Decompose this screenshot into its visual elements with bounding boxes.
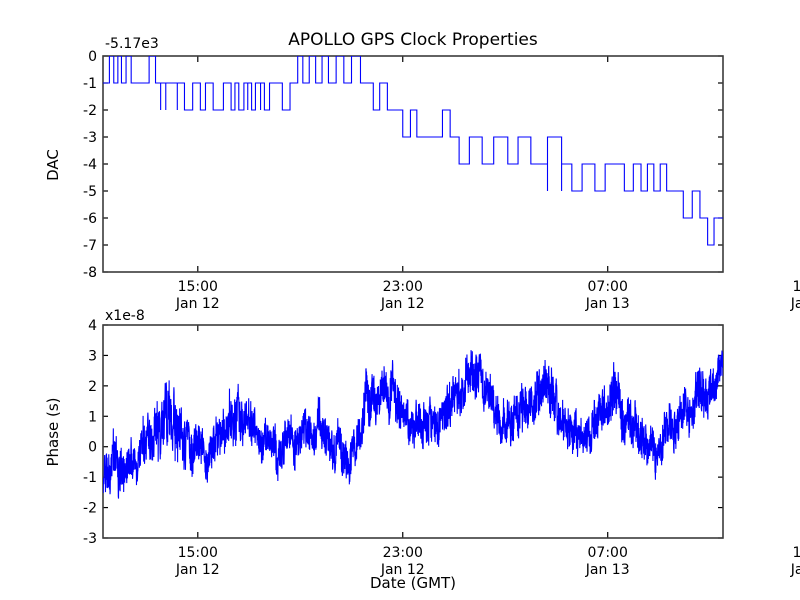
matplotlib-figure: APOLLO GPS Clock Properties -5.17e3 DAC …	[0, 0, 800, 600]
dac-offset-label: -5.17e3	[105, 36, 159, 52]
phase-y-axis-label: Phase (s)	[44, 397, 62, 466]
phase-data-line	[103, 350, 723, 499]
y-tick-label: -6	[83, 211, 97, 227]
y-tick-label: -1	[83, 76, 97, 92]
x-tick-label: 07:00	[588, 279, 628, 295]
dac-y-tick-group: 0-1-2-3-4-5-6-7-8	[83, 49, 723, 281]
y-tick-label: -7	[83, 238, 97, 254]
dac-plot-frame	[103, 56, 723, 272]
x-tick-label: 15:00	[792, 279, 800, 295]
dac-x-tick-group: 15:00Jan 1223:00Jan 1207:00Jan 1315:00Ja…	[175, 56, 800, 312]
x-tick-label: Jan 13	[585, 562, 630, 578]
x-tick-label: 23:00	[383, 545, 423, 561]
page-title: APOLLO GPS Clock Properties	[288, 30, 538, 50]
y-tick-label: -5	[83, 184, 97, 200]
dac-data-line	[103, 56, 723, 245]
x-tick-label: 15:00	[178, 279, 218, 295]
phase-axes: x1e-8 Phase (s) Date (GMT) 43210-1-2-3 1…	[44, 308, 800, 592]
y-tick-label: -3	[83, 130, 97, 146]
y-tick-label: 0	[88, 49, 97, 65]
x-tick-label: Jan 12	[175, 296, 220, 312]
y-tick-label: -4	[83, 157, 97, 173]
x-tick-label: Jan 12	[175, 562, 220, 578]
y-tick-label: 4	[88, 318, 97, 334]
x-tick-label: 07:00	[588, 545, 628, 561]
y-tick-label: 1	[88, 409, 97, 425]
dac-y-axis-label: DAC	[44, 149, 62, 181]
x-tick-label: Jan 13	[585, 296, 630, 312]
y-tick-label: 0	[88, 440, 97, 456]
y-tick-label: -2	[83, 501, 97, 517]
x-tick-label: 23:00	[383, 279, 423, 295]
y-tick-label: -1	[83, 470, 97, 486]
dac-axes: -5.17e3 DAC 0-1-2-3-4-5-6-7-8 15:00Jan 1…	[44, 36, 800, 312]
phase-offset-label: x1e-8	[105, 308, 145, 324]
x-tick-label: 15:00	[792, 545, 800, 561]
x-tick-label: Jan 12	[380, 562, 425, 578]
plot-canvas: APOLLO GPS Clock Properties -5.17e3 DAC …	[0, 0, 800, 600]
y-tick-label: -2	[83, 103, 97, 119]
y-tick-label: 2	[88, 379, 97, 395]
x-tick-label: Jan 13	[790, 562, 800, 578]
x-tick-label: Jan 12	[380, 296, 425, 312]
y-tick-label: 3	[88, 348, 97, 364]
x-tick-label: Jan 13	[790, 296, 800, 312]
y-tick-label: -8	[83, 265, 97, 281]
y-tick-label: -3	[83, 531, 97, 547]
phase-x-tick-group: 15:00Jan 1223:00Jan 1207:00Jan 1315:00Ja…	[175, 325, 800, 578]
x-tick-label: 15:00	[178, 545, 218, 561]
